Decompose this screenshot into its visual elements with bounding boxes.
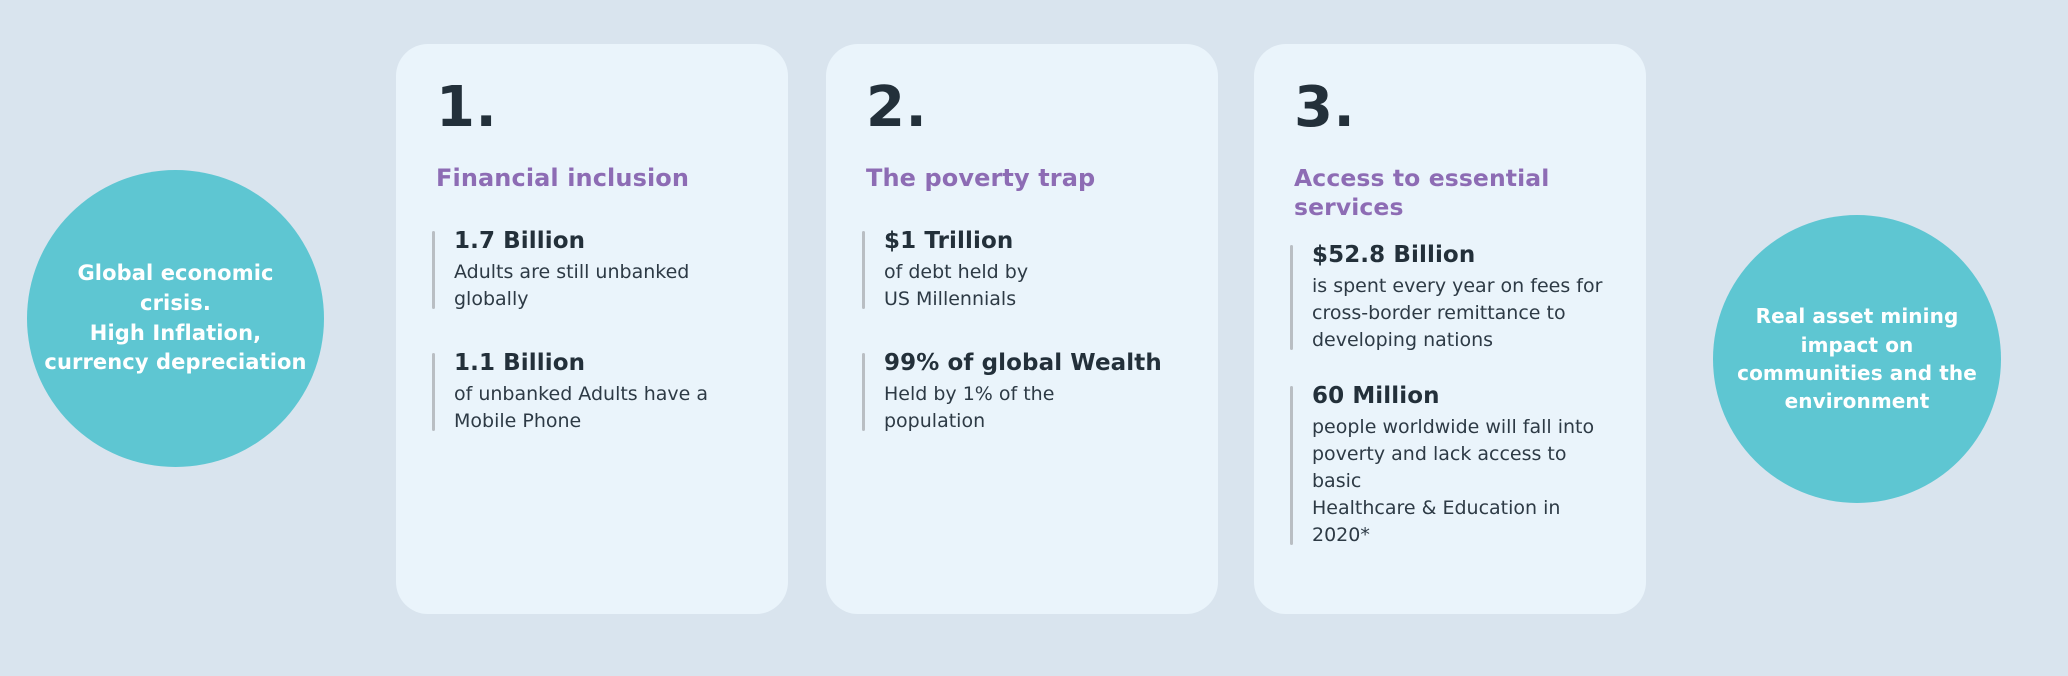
stat-value: 60 Million	[1312, 382, 1606, 411]
left-context-circle: Global economic crisis. High Inflation, …	[27, 170, 324, 467]
card-number: 1.	[436, 80, 748, 136]
stat-description: Held by 1% of the population	[884, 381, 1178, 435]
stat-item: 99% of global Wealth Held by 1% of the p…	[862, 349, 1178, 435]
stat-value: 99% of global Wealth	[884, 349, 1178, 378]
stat-item: $1 Trillion of debt held by US Millennia…	[862, 227, 1178, 313]
stat-description: people worldwide will fall into poverty …	[1312, 414, 1606, 549]
infographic-canvas: Global economic crisis. High Inflation, …	[0, 0, 2068, 676]
card-title: The poverty trap	[866, 164, 1178, 193]
stat-accent-bar	[1290, 245, 1293, 350]
stat-value: $52.8 Billion	[1312, 241, 1606, 270]
card-poverty-trap: 2. The poverty trap $1 Trillion of debt …	[826, 44, 1218, 614]
stat-value: $1 Trillion	[884, 227, 1178, 256]
card-title: Access to essential services	[1294, 164, 1606, 221]
stat-list: $1 Trillion of debt held by US Millennia…	[862, 227, 1178, 434]
right-circle-text: Real asset mining impact on communities …	[1713, 302, 2001, 416]
stat-item: $52.8 Billion is spent every year on fee…	[1290, 241, 1606, 354]
stat-accent-bar	[862, 353, 865, 431]
stat-value: 1.1 Billion	[454, 349, 748, 378]
card-access-essential-services: 3. Access to essential services $52.8 Bi…	[1254, 44, 1646, 614]
card-title: Financial inclusion	[436, 164, 748, 193]
stat-description: of unbanked Adults have a Mobile Phone	[454, 381, 748, 435]
stat-accent-bar	[1290, 386, 1293, 545]
right-context-circle: Real asset mining impact on communities …	[1713, 215, 2001, 503]
card-number: 3.	[1294, 80, 1606, 136]
stat-description: of debt held by US Millennials	[884, 259, 1178, 313]
stat-description: Adults are still unbanked globally	[454, 259, 748, 313]
stat-item: 60 Million people worldwide will fall in…	[1290, 382, 1606, 549]
stat-item: 1.7 Billion Adults are still unbanked gl…	[432, 227, 748, 313]
stat-value: 1.7 Billion	[454, 227, 748, 256]
stat-description: is spent every year on fees for cross-bo…	[1312, 273, 1606, 354]
stat-accent-bar	[432, 353, 435, 431]
stat-item: 1.1 Billion of unbanked Adults have a Mo…	[432, 349, 748, 435]
card-financial-inclusion: 1. Financial inclusion 1.7 Billion Adult…	[396, 44, 788, 614]
stat-accent-bar	[432, 231, 435, 309]
stat-list: $52.8 Billion is spent every year on fee…	[1290, 241, 1606, 548]
left-circle-text: Global economic crisis. High Inflation, …	[27, 259, 324, 378]
stat-list: 1.7 Billion Adults are still unbanked gl…	[432, 227, 748, 434]
stat-accent-bar	[862, 231, 865, 309]
card-number: 2.	[866, 80, 1178, 136]
